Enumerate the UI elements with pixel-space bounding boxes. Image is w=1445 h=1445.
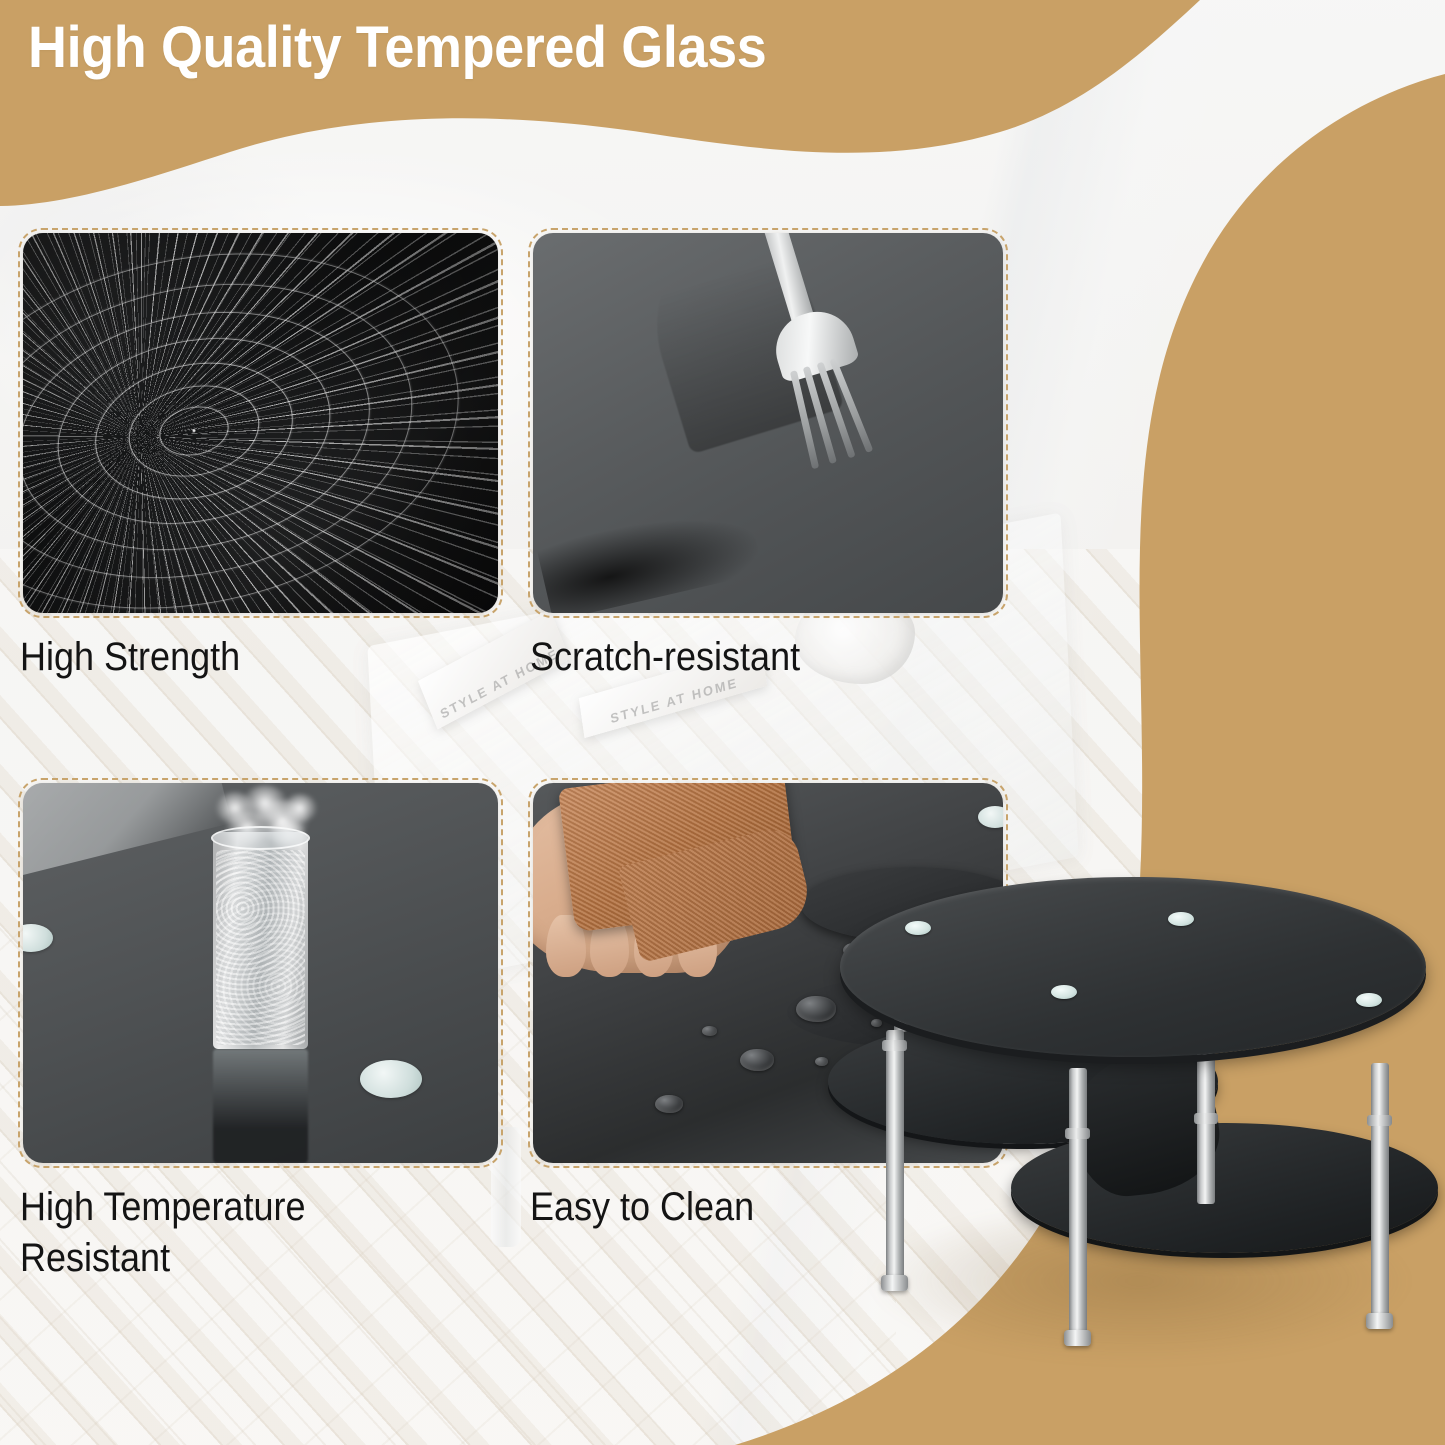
feature-caption-high-temperature: High Temperature Resistant [20, 1182, 305, 1284]
page-title: High Quality Tempered Glass [28, 18, 766, 79]
product-glass-top [840, 877, 1426, 1057]
card-dashed-frame [18, 778, 503, 1168]
glass-mount-disc [1051, 985, 1077, 999]
product-leg-back-left [886, 1030, 904, 1286]
product-infographic: STYLE AT HOME STYLE AT HOME High Quality… [0, 0, 1445, 1445]
feature-caption-easy-to-clean: Easy to Clean [530, 1182, 754, 1233]
glass-mount-disc [905, 921, 931, 935]
feature-card-scratch-resistant: Scratch-resistant [528, 228, 1008, 618]
feature-card-high-temperature: High Temperature Resistant [18, 778, 503, 1168]
card-dashed-frame [528, 228, 1008, 618]
glass-mount-disc [1168, 912, 1194, 926]
glass-mount-disc [1356, 993, 1382, 1007]
feature-caption-scratch-resistant: Scratch-resistant [530, 632, 800, 683]
card-dashed-frame [18, 228, 503, 618]
product-leg-front-right [1371, 1063, 1389, 1325]
feature-card-high-strength: High Strength [18, 228, 503, 618]
feature-caption-high-strength: High Strength [20, 632, 240, 683]
product-leg-back-right [1197, 1036, 1215, 1205]
product-coffee-table [828, 872, 1438, 1417]
product-leg-front-left [1069, 1068, 1087, 1341]
